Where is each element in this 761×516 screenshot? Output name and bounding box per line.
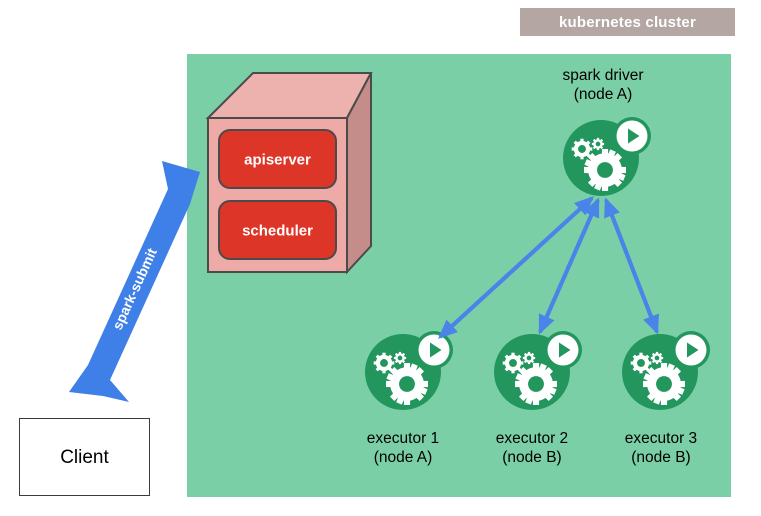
connector-driver-executor-3 bbox=[606, 200, 657, 332]
scheduler-label: scheduler bbox=[242, 223, 313, 240]
driver-executor-connectors bbox=[440, 198, 657, 337]
cube-top-face bbox=[208, 73, 371, 118]
apiserver-component: apiserver bbox=[219, 130, 336, 188]
scheduler-component: scheduler bbox=[219, 201, 336, 259]
executor-2-node bbox=[494, 331, 582, 410]
apiserver-label: apiserver bbox=[244, 152, 311, 169]
spark-submit-arrow: spark-submit bbox=[69, 161, 200, 402]
diagram-vector-layer: apiserver scheduler spark-submit bbox=[0, 0, 761, 516]
executor-3-node bbox=[622, 331, 710, 410]
spark-driver-node bbox=[563, 117, 651, 196]
executor-1-node bbox=[365, 331, 453, 410]
diagram-canvas: kubernetes cluster Client spark driver (… bbox=[0, 0, 761, 516]
kubernetes-control-plane-cube: apiserver scheduler bbox=[208, 73, 371, 272]
